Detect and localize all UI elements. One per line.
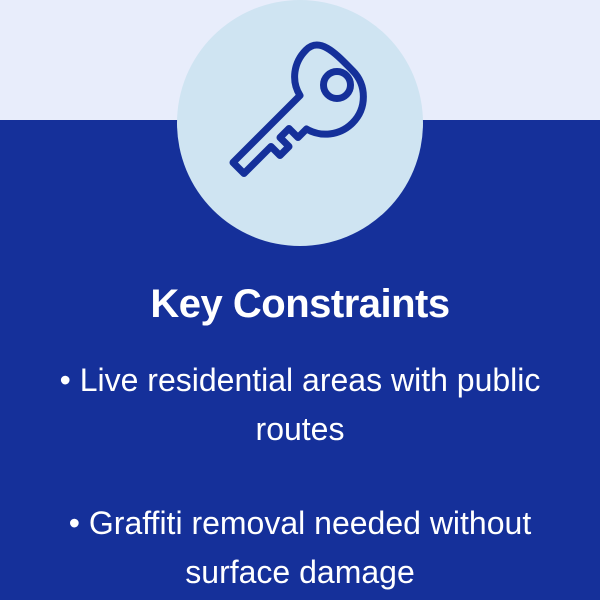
key-icon (200, 23, 400, 223)
bullet-list: • Live residential areas with public rou… (0, 356, 600, 597)
page-title: Key Constraints (0, 283, 600, 325)
list-item: • Live residential areas with public rou… (0, 356, 600, 453)
list-item: • Graffiti removal needed without surfac… (0, 499, 600, 596)
icon-circle (177, 0, 423, 246)
key-constraints-card: Key Constraints • Live residential areas… (0, 0, 600, 600)
